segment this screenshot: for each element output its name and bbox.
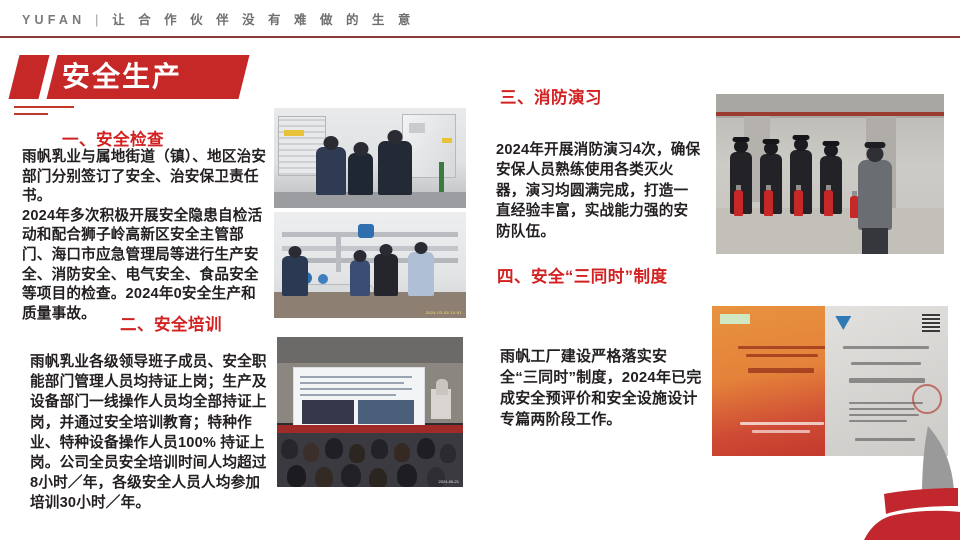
sailboat-logo-icon — [850, 420, 960, 540]
photo-fire-drill — [716, 94, 944, 254]
photo-warning-label-2 — [442, 138, 452, 143]
photo-ceiling — [277, 337, 463, 363]
section-heading-safety-inspection: 一、安全检查 — [62, 126, 164, 150]
header-divider — [0, 36, 960, 38]
photo-instructor — [858, 160, 892, 230]
photo-inspection-pipes: 2024-03-05 10:51 — [274, 212, 466, 318]
brand-slogan: 让 合 作 伙 伴 没 有 难 做 的 生 意 — [112, 13, 415, 27]
section-heading-safety-training: 二、安全培训 — [120, 311, 222, 335]
section-heading-fire-drill: 三、消防演习 — [500, 84, 602, 108]
doc-logo-icon — [835, 316, 851, 330]
slide-root: YUFAN | 让 合 作 伙 伴 没 有 难 做 的 生 意 安全生产 一、安… — [0, 0, 960, 540]
section-body-safety-inspection: 雨帆乳业与属地街道（镇）、地区治安 部门分别签订了安全、治安保卫责任书。 202… — [22, 148, 268, 324]
section-body-fire-drill: 2024年开展消防演习4次，确保安保人员熟练使用各类灭火器，演习均圆满完成，打造… — [496, 140, 702, 242]
page-header: YUFAN | 让 合 作 伙 伴 没 有 难 做 的 生 意 — [0, 0, 960, 37]
photo-training-auditorium: 2024-05-21 — [277, 337, 463, 487]
doc-badge — [720, 314, 750, 324]
photo-person — [282, 256, 308, 296]
photo-person — [316, 147, 346, 195]
photo-fire-extinguisher — [764, 190, 773, 216]
photo-projector-screen — [293, 367, 425, 431]
photo-timestamp: 2024-03-05 10:51 — [426, 310, 462, 315]
photo-person — [378, 141, 412, 195]
photo-audience — [277, 433, 463, 487]
photo-blue-motor — [358, 224, 374, 238]
photo-person — [350, 260, 370, 296]
brand-separator: | — [93, 13, 104, 27]
title-rule-lower — [14, 113, 48, 115]
page-title: 安全生产 — [62, 55, 242, 99]
section-body-safety-training: 雨帆乳业各级领导班子成员、安全职能部门管理人员均持证上岗；生产及设备部门一线操作… — [30, 352, 270, 514]
photo-inspection-electrical — [274, 108, 466, 208]
qr-code-icon — [922, 314, 940, 332]
doc-cover-preassessment — [712, 306, 825, 456]
photo-valve — [318, 274, 328, 284]
photo-timestamp: 2024-05-21 — [439, 479, 459, 484]
doc-seal-icon — [912, 384, 942, 414]
photo-person — [408, 252, 434, 296]
brand-tagline: YUFAN | 让 合 作 伙 伴 没 有 难 做 的 生 意 — [22, 9, 415, 28]
section-body-three-simultaneities: 雨帆工厂建设严格落实安全“三同时”制度，2024年已完成安全预评价和安全设施设计… — [500, 346, 702, 430]
photo-person — [348, 153, 373, 195]
photo-warning-label — [284, 130, 304, 136]
brand-name: YUFAN — [22, 13, 85, 27]
title-rule-upper — [14, 106, 74, 108]
photo-speaker — [436, 379, 448, 395]
photo-fire-extinguisher — [794, 190, 803, 216]
photo-vertical-pipe — [336, 232, 341, 272]
photo-fire-extinguisher — [734, 190, 743, 216]
photo-fire-extinguisher — [824, 190, 833, 216]
photo-person — [374, 254, 398, 296]
photo-green-post — [439, 162, 444, 192]
section-heading-three-simultaneities: 四、安全“三同时”制度 — [497, 263, 668, 287]
banner-accent-bar — [9, 55, 50, 99]
